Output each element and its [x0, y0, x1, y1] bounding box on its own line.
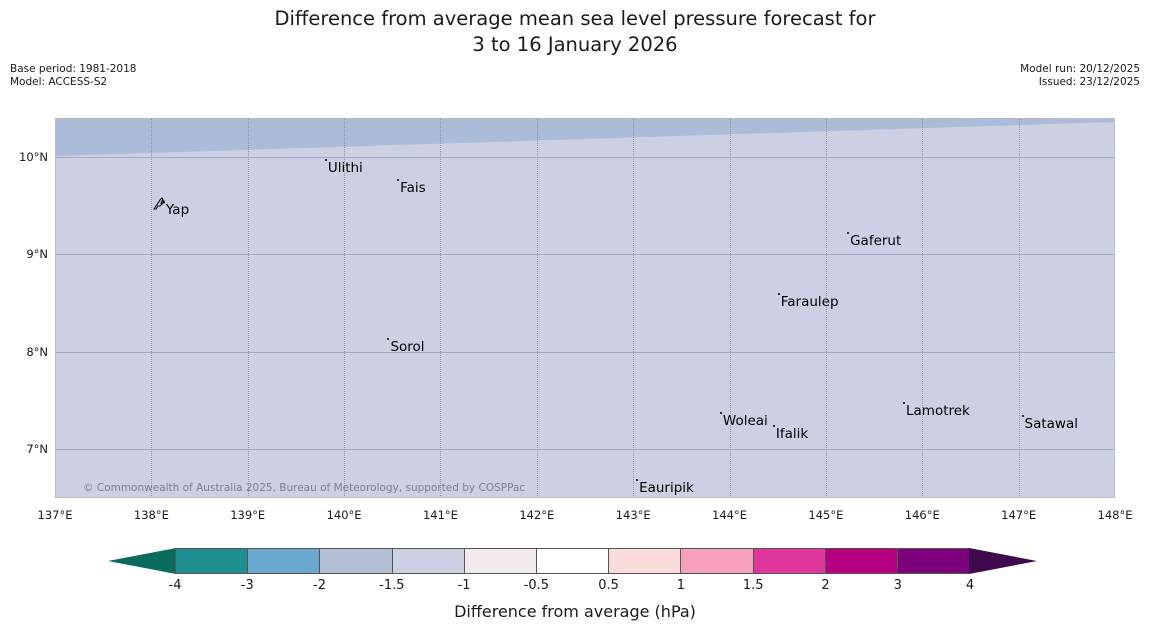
- colorbar-segment[interactable]: [248, 549, 320, 573]
- gridline-vertical: [730, 118, 731, 498]
- colorbar-segment[interactable]: [320, 549, 392, 573]
- place-marker-dot: [773, 425, 775, 427]
- model-run-text: Model run: 20/12/2025: [1020, 63, 1140, 76]
- colorbar-segment[interactable]: [176, 549, 248, 573]
- gridline-vertical: [440, 118, 441, 498]
- colorbar-tick-label: -0.5: [524, 578, 549, 593]
- colorbar-over-arrow: [969, 548, 1037, 574]
- colorbar-tick-label: -4: [169, 578, 182, 593]
- latitude-tick-label: 8°N: [4, 345, 48, 359]
- gridline-horizontal: [55, 157, 1115, 158]
- longitude-tick-label: 140°E: [327, 508, 362, 522]
- place-marker-dot: [903, 402, 905, 404]
- gridline-horizontal: [55, 449, 1115, 450]
- colorbar-segment[interactable]: [393, 549, 465, 573]
- place-label-ifalik: Ifalik: [776, 426, 808, 442]
- colorbar-tick-label: 1.5: [743, 578, 764, 593]
- colorbar-under-arrow: [108, 548, 176, 574]
- copyright-text: © Commonwealth of Australia 2025, Bureau…: [83, 482, 525, 494]
- place-label-lamotrek: Lamotrek: [906, 403, 970, 419]
- colorbar-segment[interactable]: [609, 549, 681, 573]
- colorbar-tick-label: 2: [821, 578, 829, 593]
- page-title: Difference from average mean sea level p…: [0, 6, 1150, 58]
- gridline-vertical: [537, 118, 538, 498]
- colorbar-tick-label: -3: [241, 578, 254, 593]
- longitude-tick-label: 138°E: [134, 508, 169, 522]
- place-label-fais: Fais: [400, 180, 426, 196]
- colorbar-segment[interactable]: [898, 549, 969, 573]
- longitude-tick-label: 137°E: [38, 508, 73, 522]
- longitude-tick-label: 139°E: [230, 508, 265, 522]
- longitude-tick-label: 142°E: [519, 508, 554, 522]
- colorbar-segments[interactable]: [175, 548, 970, 574]
- latitude-tick-label: 7°N: [4, 442, 48, 456]
- colorbar[interactable]: -4-3-2-1.5-1-0.50.511.5234 Difference fr…: [0, 540, 1150, 644]
- longitude-tick-label: 144°E: [712, 508, 747, 522]
- base-period-text: Base period: 1981-2018: [10, 63, 136, 76]
- place-marker-dot: [1022, 415, 1024, 417]
- gridline-vertical: [1019, 118, 1020, 498]
- colorbar-label: Difference from average (hPa): [0, 602, 1150, 621]
- model-text: Model: ACCESS-S2: [10, 76, 136, 89]
- colorbar-segment[interactable]: [681, 549, 753, 573]
- colorbar-tick-label: 3: [894, 578, 902, 593]
- colorbar-tick-label: 0.5: [598, 578, 619, 593]
- colorbar-tick-label: -2: [313, 578, 326, 593]
- place-marker-dot: [720, 412, 722, 414]
- colorbar-segment[interactable]: [537, 549, 609, 573]
- metadata-left: Base period: 1981-2018 Model: ACCESS-S2: [10, 63, 136, 89]
- place-marker-dot: [325, 159, 327, 161]
- latitude-tick-label: 9°N: [4, 247, 48, 261]
- place-marker-dot: [847, 232, 849, 234]
- colorbar-tick-label: 4: [966, 578, 974, 593]
- place-label-yap: Yap: [166, 202, 189, 218]
- place-label-sorol: Sorol: [390, 339, 424, 355]
- gridline-vertical: [151, 118, 152, 498]
- place-marker-dot: [397, 179, 399, 181]
- place-label-woleai: Woleai: [723, 413, 768, 429]
- longitude-tick-label: 148°E: [1098, 508, 1133, 522]
- longitude-tick-label: 143°E: [616, 508, 651, 522]
- longitude-tick-label: 145°E: [808, 508, 843, 522]
- place-label-ulithi: Ulithi: [328, 160, 363, 176]
- place-label-faraulep: Faraulep: [781, 294, 839, 310]
- gridline-vertical: [248, 118, 249, 498]
- anomaly-region-northwest: [55, 118, 1115, 218]
- yap-island-outline-icon: [152, 196, 168, 212]
- longitude-tick-label: 147°E: [1001, 508, 1036, 522]
- gridline-horizontal: [55, 352, 1115, 353]
- colorbar-tick-label: -1: [458, 578, 471, 593]
- place-label-eauripik: Eauripik: [639, 480, 694, 496]
- colorbar-segment[interactable]: [465, 549, 537, 573]
- place-marker-dot: [636, 479, 638, 481]
- metadata-right: Model run: 20/12/2025 Issued: 23/12/2025: [1020, 63, 1140, 89]
- gridline-vertical: [633, 118, 634, 498]
- map-plot-area[interactable]: YapUlithiFaisSorolGaferutFaraulepWoleaiI…: [55, 118, 1115, 498]
- gridline-vertical: [55, 118, 56, 498]
- gridline-horizontal: [55, 254, 1115, 255]
- gridline-vertical: [922, 118, 923, 498]
- longitude-tick-label: 146°E: [905, 508, 940, 522]
- place-marker-dot: [387, 338, 389, 340]
- place-label-gaferut: Gaferut: [850, 233, 901, 249]
- latitude-tick-label: 10°N: [4, 150, 48, 164]
- colorbar-tick-label: 1: [677, 578, 685, 593]
- longitude-tick-label: 141°E: [423, 508, 458, 522]
- issued-text: Issued: 23/12/2025: [1020, 76, 1140, 89]
- colorbar-tick-label: -1.5: [379, 578, 404, 593]
- place-label-satawal: Satawal: [1025, 416, 1078, 432]
- colorbar-segment[interactable]: [754, 549, 826, 573]
- place-marker-dot: [778, 293, 780, 295]
- colorbar-segment[interactable]: [826, 549, 898, 573]
